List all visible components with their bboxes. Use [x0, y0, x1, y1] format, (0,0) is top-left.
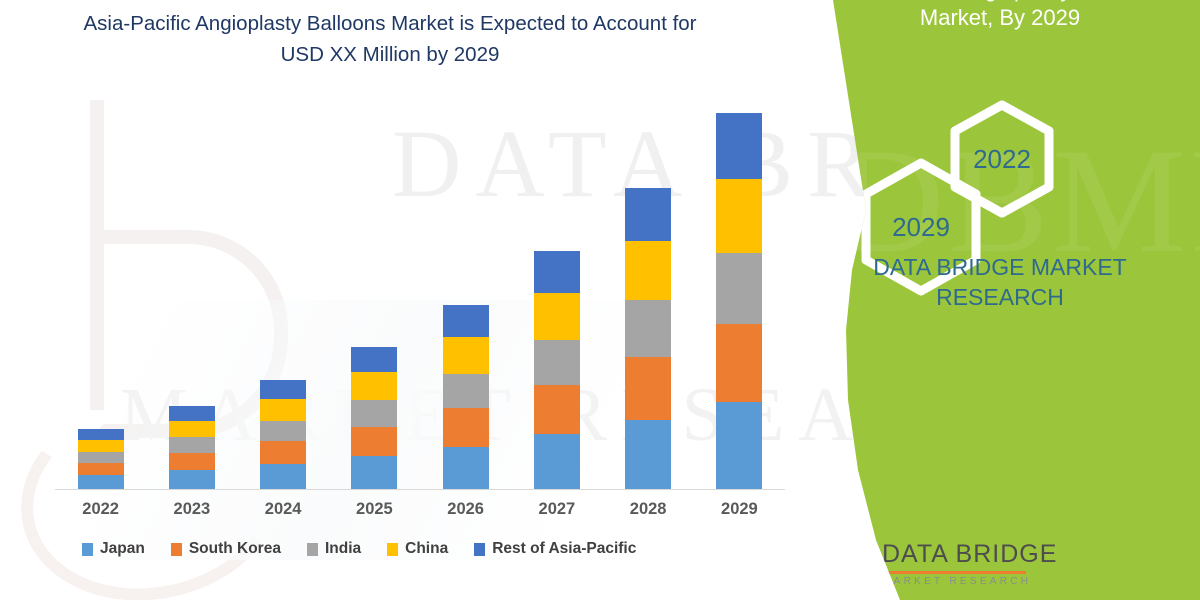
x-axis-label: 2029: [694, 500, 785, 519]
x-axis-label: 2025: [329, 500, 420, 519]
dbmr-logo-subtitle: MARKET RESEARCH: [882, 576, 1102, 587]
bar-segment[interactable]: [169, 437, 215, 453]
bar-segment[interactable]: [625, 188, 671, 241]
bar-segment[interactable]: [443, 305, 489, 337]
legend-swatch-icon: [171, 543, 182, 556]
bar-segment[interactable]: [534, 340, 580, 385]
bar-segment[interactable]: [78, 463, 124, 475]
legend-swatch-icon: [387, 543, 398, 556]
dbmr-logo: DATA BRIDGE MARKET RESEARCH: [808, 532, 1108, 600]
bar-segment[interactable]: [260, 399, 306, 421]
x-axis-labels: 20222023202420252026202720282029: [55, 500, 785, 519]
chart-title: Asia-Pacific Angioplasty Balloons Market…: [60, 8, 720, 70]
panel-title-line-top: Asia-Pacific Angioplasty Balloons: [828, 0, 1172, 4]
x-axis-line: [55, 489, 785, 490]
bar-segment[interactable]: [351, 427, 397, 456]
chart-plot-area: [55, 90, 785, 490]
bar-slot: [146, 90, 237, 489]
bar-segment[interactable]: [169, 406, 215, 421]
bar-segment[interactable]: [443, 337, 489, 373]
bar-segment[interactable]: [351, 400, 397, 427]
bar-slot: [694, 90, 785, 489]
bar-segment[interactable]: [625, 300, 671, 357]
bar-slot: [511, 90, 602, 489]
legend-item[interactable]: Rest of Asia-Pacific: [474, 540, 636, 558]
legend-label: India: [325, 540, 361, 558]
legend-label: China: [405, 540, 448, 558]
bar-slot: [55, 90, 146, 489]
bar-slot: [420, 90, 511, 489]
bar-segment[interactable]: [169, 470, 215, 489]
hexagon-2022-label: 2022: [948, 100, 1056, 218]
bar-segment[interactable]: [625, 241, 671, 300]
stacked-bar[interactable]: [169, 406, 215, 489]
bar-segment[interactable]: [78, 452, 124, 463]
dbmr-logo-text: DATA BRIDGE MARKET RESEARCH: [882, 540, 1102, 587]
bar-segment[interactable]: [260, 441, 306, 464]
chart-legend: JapanSouth KoreaIndiaChinaRest of Asia-P…: [60, 540, 780, 558]
panel-brand-line-2: RESEARCH: [840, 282, 1160, 312]
bar-segment[interactable]: [625, 420, 671, 489]
legend-item[interactable]: Japan: [82, 540, 145, 558]
bar-segment[interactable]: [716, 253, 762, 324]
x-axis-label: 2022: [55, 500, 146, 519]
x-axis-label: 2028: [603, 500, 694, 519]
bar-segment[interactable]: [351, 347, 397, 372]
bar-segment[interactable]: [716, 113, 762, 179]
bar-segment[interactable]: [260, 380, 306, 399]
bar-segment[interactable]: [534, 251, 580, 293]
legend-swatch-icon: [474, 543, 485, 556]
legend-item[interactable]: South Korea: [171, 540, 281, 558]
bar-segment[interactable]: [534, 293, 580, 340]
legend-label: Japan: [100, 540, 145, 558]
legend-label: South Korea: [189, 540, 281, 558]
stacked-bar[interactable]: [716, 113, 762, 489]
panel-title-line-bottom: Market, By 2029: [920, 5, 1080, 30]
legend-swatch-icon: [82, 543, 93, 556]
bar-segment[interactable]: [351, 372, 397, 400]
bar-slot: [329, 90, 420, 489]
bar-segment[interactable]: [78, 440, 124, 452]
x-axis-label: 2023: [146, 500, 237, 519]
infographic-root: DATA BRIDGE MARKET RESEARCH Asia-Pacific…: [0, 0, 1200, 600]
hexagon-2022: 2022: [948, 100, 1056, 218]
x-axis-label: 2027: [511, 500, 602, 519]
bar-segment[interactable]: [625, 357, 671, 419]
bar-segment[interactable]: [78, 429, 124, 439]
dbmr-logo-mark-icon: [808, 534, 876, 600]
hexagon-group: 2029 2022: [838, 100, 1098, 240]
bar-segment[interactable]: [443, 408, 489, 446]
legend-item[interactable]: China: [387, 540, 448, 558]
stacked-bar[interactable]: [78, 429, 124, 489]
bar-segment[interactable]: [260, 421, 306, 442]
dbmr-logo-rule: [882, 571, 1026, 574]
bar-segment[interactable]: [443, 447, 489, 490]
bar-segment[interactable]: [534, 434, 580, 489]
panel-title: Asia-Pacific Angioplasty Balloons Market…: [800, 0, 1200, 32]
bar-segment[interactable]: [534, 385, 580, 434]
bar-slot: [603, 90, 694, 489]
legend-label: Rest of Asia-Pacific: [492, 540, 636, 558]
x-axis-label: 2024: [238, 500, 329, 519]
bar-slot: [238, 90, 329, 489]
bar-segment[interactable]: [716, 402, 762, 489]
bar-segment[interactable]: [443, 374, 489, 409]
bar-segment[interactable]: [716, 179, 762, 253]
stacked-bar[interactable]: [260, 380, 306, 489]
stacked-bars-container: [55, 90, 785, 489]
bar-segment[interactable]: [260, 464, 306, 489]
stacked-bar[interactable]: [625, 188, 671, 489]
dbmr-logo-title: DATA BRIDGE: [882, 540, 1102, 569]
bar-segment[interactable]: [78, 475, 124, 489]
bar-segment[interactable]: [351, 456, 397, 489]
x-axis-label: 2026: [420, 500, 511, 519]
stacked-bar[interactable]: [534, 251, 580, 489]
panel-brand: DATA BRIDGE MARKET RESEARCH: [800, 252, 1200, 312]
legend-item[interactable]: India: [307, 540, 361, 558]
bar-segment[interactable]: [169, 421, 215, 437]
panel-brand-line-1: DATA BRIDGE MARKET: [840, 252, 1160, 282]
right-green-panel: DBMR Asia-Pacific Angioplasty Balloons M…: [800, 0, 1200, 600]
stacked-bar[interactable]: [443, 305, 489, 489]
legend-swatch-icon: [307, 543, 318, 556]
bar-segment[interactable]: [169, 453, 215, 470]
stacked-bar[interactable]: [351, 347, 397, 489]
bar-segment[interactable]: [716, 324, 762, 402]
